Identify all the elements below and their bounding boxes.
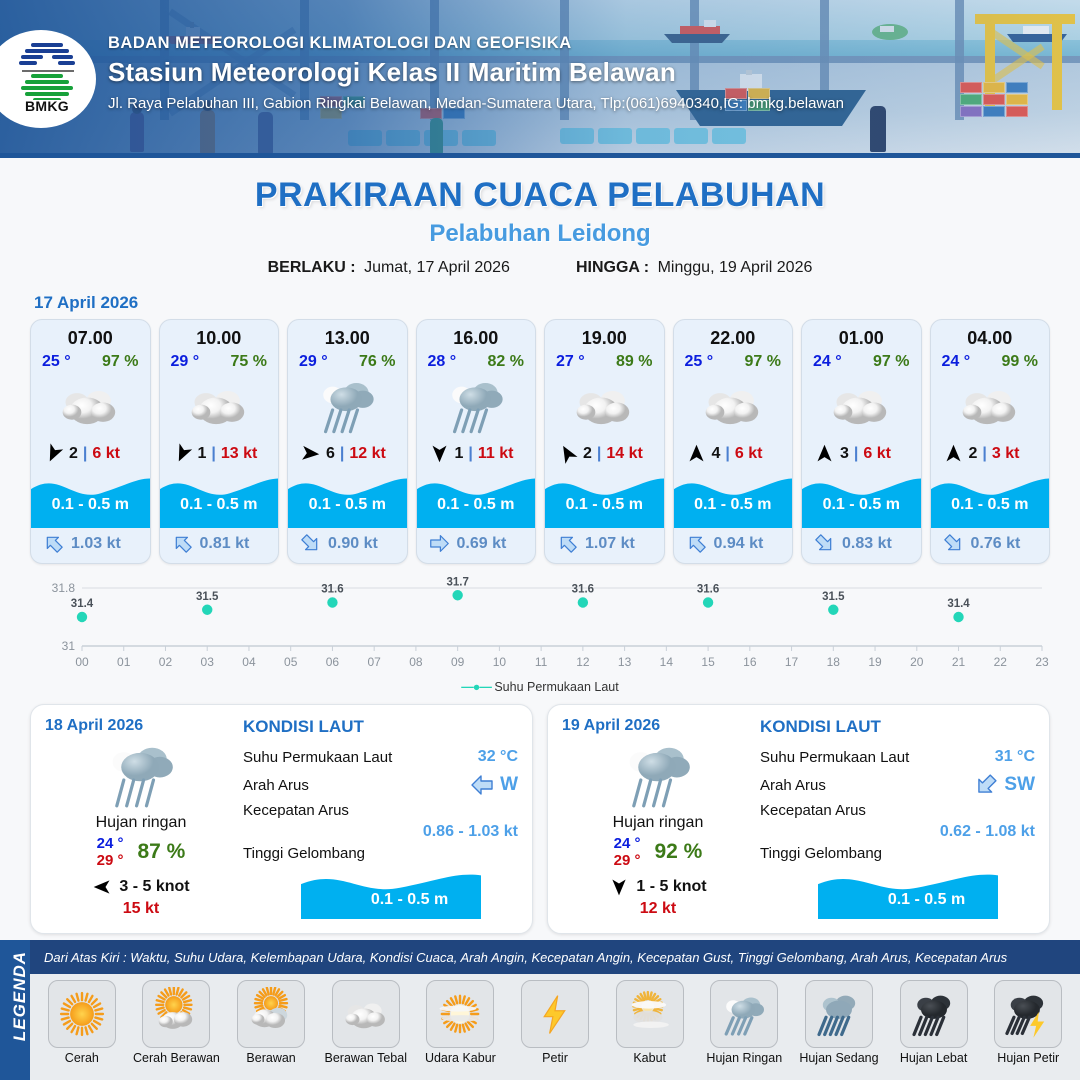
legend-icon-list: Cerah Cerah Berawan Berawan (30, 974, 1080, 1080)
card-separator: | (340, 445, 344, 463)
wave-height-label: Tinggi Gelombang (243, 845, 365, 862)
bmkg-logo-icon (18, 42, 76, 100)
clouds-icon (332, 980, 400, 1048)
card-separator: | (83, 445, 87, 463)
arrow-n-icon (814, 443, 835, 464)
agency-name: BADAN METEOROLOGI KLIMATOLOGI DAN GEOFIS… (108, 34, 844, 53)
svg-text:03: 03 (201, 655, 215, 669)
light-rain-icon (45, 735, 237, 813)
card-wave-band: 0.1 - 0.5 m (31, 470, 150, 528)
daily-left-block: 19 April 2026 Hujan ringan 24 ° 29 ° 92 … (562, 717, 754, 919)
card-wave-height: 0.1 - 0.5 m (931, 496, 1050, 514)
card-separator: | (725, 445, 729, 463)
arrow-nw-icon (557, 533, 578, 554)
card-wind-speed: 1 (455, 445, 464, 463)
hourly-card[interactable]: 04.00 24 ° 99 % 2 | 3 kt 0.1 - 0.5 m (930, 319, 1051, 564)
legend-item-label: Berawan (225, 1051, 317, 1065)
card-wave-band: 0.1 - 0.5 m (931, 470, 1050, 528)
legend-item-label: Udara Kabur (415, 1051, 507, 1065)
svg-text:31.5: 31.5 (822, 591, 845, 603)
svg-text:31.4: 31.4 (71, 598, 94, 610)
card-wind-speed: 2 (969, 445, 978, 463)
hourly-forecast-row: 07.00 25 ° 97 % 2 | 6 kt 0.1 - 0.5 m (0, 319, 1080, 564)
card-separator: | (982, 445, 986, 463)
valid-to: HINGGA : Minggu, 19 April 2026 (576, 259, 812, 277)
svg-text:21: 21 (952, 655, 966, 669)
card-time: 01.00 (802, 320, 921, 349)
card-gust: 3 kt (992, 445, 1020, 463)
cloudy-icon (160, 373, 279, 437)
legend-note: Dari Atas Kiri : Waktu, Suhu Udara, Kele… (30, 950, 1007, 965)
card-wave-height: 0.1 - 0.5 m (417, 496, 536, 514)
legend-item: Hujan Lebat (888, 980, 980, 1065)
card-separator: | (854, 445, 858, 463)
legend-item: Hujan Petir (982, 980, 1074, 1065)
card-wave-height: 0.1 - 0.5 m (545, 496, 664, 514)
sst-chart: 31.8310001020304050607080910111213141516… (30, 576, 1050, 676)
validity-row: BERLAKU : Jumat, 17 April 2026 HINGGA : … (0, 259, 1080, 277)
svg-text:19: 19 (868, 655, 882, 669)
legend-footer: LEGENDA Dari Atas Kiri : Waktu, Suhu Uda… (0, 940, 1080, 1080)
svg-text:31.7: 31.7 (446, 576, 468, 588)
sea-conditions-title: KONDISI LAUT (760, 717, 1035, 737)
legend-item-label: Hujan Lebat (888, 1051, 980, 1065)
svg-text:31: 31 (62, 639, 76, 653)
svg-text:31.6: 31.6 (572, 584, 594, 596)
daily-condition: Hujan ringan (562, 814, 754, 832)
card-time: 22.00 (674, 320, 793, 349)
svg-text:31.5: 31.5 (196, 591, 219, 603)
card-current-speed: 0.83 kt (842, 535, 892, 553)
daily-wave-value: 0.1 - 0.5 m (818, 891, 1035, 909)
port-name: Pelabuhan Leidong (0, 220, 1080, 248)
card-wave-band: 0.1 - 0.5 m (802, 470, 921, 528)
card-wave-height: 0.1 - 0.5 m (802, 496, 921, 514)
card-wave-band: 0.1 - 0.5 m (160, 470, 279, 528)
card-wind-speed: 1 (198, 445, 207, 463)
header-text-block: BADAN METEOROLOGI KLIMATOLOGI DAN GEOFIS… (108, 34, 844, 112)
card-time: 13.00 (288, 320, 407, 349)
heavy-rain-icon (900, 980, 968, 1048)
arrow-se-icon (943, 533, 964, 554)
daily-humidity: 92 % (654, 840, 702, 864)
card-wind-speed: 2 (583, 445, 592, 463)
svg-text:16: 16 (743, 655, 757, 669)
daily-gust: 15 kt (45, 900, 237, 918)
current-direction-label: Arah Arus (760, 777, 826, 794)
arrow-s-icon (429, 443, 450, 464)
sst-value: 32 °C (478, 748, 518, 766)
current-speed-value: 0.86 - 1.03 kt (243, 823, 518, 841)
haze-icon (426, 980, 494, 1048)
arrow-se-icon (300, 533, 321, 554)
daily-temp-min: 24 ° (97, 835, 124, 852)
cloudy-icon (545, 373, 664, 437)
legend-item-label: Petir (509, 1051, 601, 1065)
card-separator: | (468, 445, 472, 463)
card-time: 19.00 (545, 320, 664, 349)
sea-conditions-title: KONDISI LAUT (243, 717, 518, 737)
card-wave-band: 0.1 - 0.5 m (674, 470, 793, 528)
cloudy-icon (674, 373, 793, 437)
sst-value: 31 °C (995, 748, 1035, 766)
legend-item-label: Hujan Petir (982, 1051, 1074, 1065)
legend-item-label: Cerah (36, 1051, 128, 1065)
svg-text:11: 11 (535, 655, 548, 669)
moderate-rain-icon (805, 980, 873, 1048)
current-speed-value: 0.62 - 1.08 kt (760, 823, 1035, 841)
arrow-nw-icon (172, 533, 193, 554)
valid-from-value: Jumat, 17 April 2026 (364, 259, 510, 276)
arrow-sw-icon (172, 443, 193, 464)
bmkg-logo-label: BMKG (12, 98, 82, 114)
valid-from: BERLAKU : Jumat, 17 April 2026 (268, 259, 510, 277)
hourly-card[interactable]: 01.00 24 ° 97 % 3 | 6 kt 0.1 - 0.5 m (801, 319, 922, 564)
daily-wind-range: 1 - 5 knot (636, 878, 706, 896)
hourly-card[interactable]: 22.00 25 ° 97 % 4 | 6 kt 0.1 - 0.5 m (673, 319, 794, 564)
card-gust: 13 kt (221, 445, 257, 463)
current-direction-label: Arah Arus (243, 777, 309, 794)
arrow-e-icon (429, 533, 450, 554)
current-speed-label: Kecepatan Arus (243, 802, 349, 819)
svg-text:05: 05 (284, 655, 298, 669)
card-gust: 6 kt (863, 445, 891, 463)
svg-text:31.4: 31.4 (947, 598, 970, 610)
page-header: BMKG BADAN METEOROLOGI KLIMATOLOGI DAN G… (0, 0, 1080, 158)
svg-text:17: 17 (785, 655, 799, 669)
card-time: 07.00 (31, 320, 150, 349)
sst-chart-svg: 31.8310001020304050607080910111213141516… (30, 576, 1050, 676)
card-current-speed: 1.07 kt (585, 535, 635, 553)
legend-item: Cerah (36, 980, 128, 1065)
sst-chart-legend: —●— Suhu Permukaan Laut (0, 680, 1080, 694)
hourly-card[interactable]: 10.00 29 ° 75 % 1 | 13 kt 0.1 - 0.5 m (159, 319, 280, 564)
legend-note-bar: Dari Atas Kiri : Waktu, Suhu Udara, Kele… (30, 940, 1080, 974)
card-wave-height: 0.1 - 0.5 m (31, 496, 150, 514)
daily-condition: Hujan ringan (45, 814, 237, 832)
daily-left-block: 18 April 2026 Hujan ringan 24 ° 29 ° 87 … (45, 717, 237, 919)
card-current-speed: 0.69 kt (457, 535, 507, 553)
legend-item: Berawan Tebal (320, 980, 412, 1065)
svg-text:14: 14 (660, 655, 674, 669)
daily-temp-max: 29 ° (97, 852, 124, 869)
svg-text:22: 22 (994, 655, 1008, 669)
daily-forecast-row: 18 April 2026 Hujan ringan 24 ° 29 ° 87 … (0, 694, 1080, 934)
legend-item-label: Cerah Berawan (131, 1051, 223, 1065)
legend-side-bar: LEGENDA (0, 940, 30, 1080)
light-rain-icon (562, 735, 754, 813)
card-gust: 6 kt (735, 445, 763, 463)
legend-item: Hujan Sedang (793, 980, 885, 1065)
legend-item: Berawan (225, 980, 317, 1065)
card-current-speed: 1.03 kt (71, 535, 121, 553)
hourly-card[interactable]: 07.00 25 ° 97 % 2 | 6 kt 0.1 - 0.5 m (30, 319, 151, 564)
card-wave-height: 0.1 - 0.5 m (674, 496, 793, 514)
card-wave-height: 0.1 - 0.5 m (288, 496, 407, 514)
cloud-sun-icon (237, 980, 305, 1048)
svg-text:06: 06 (326, 655, 340, 669)
station-name: Stasiun Meteorologi Kelas II Maritim Bel… (108, 57, 844, 88)
svg-text:23: 23 (1035, 655, 1049, 669)
card-time: 04.00 (931, 320, 1050, 349)
arrow-n-icon (686, 443, 707, 464)
light-rain-icon (417, 373, 536, 437)
svg-text:04: 04 (242, 655, 256, 669)
daily-wind-range: 3 - 5 knot (119, 878, 189, 896)
daily-forecast-card[interactable]: 19 April 2026 Hujan ringan 24 ° 29 ° 92 … (547, 704, 1050, 934)
svg-text:31.6: 31.6 (697, 584, 719, 596)
card-time: 16.00 (417, 320, 536, 349)
card-wave-band: 0.1 - 0.5 m (545, 470, 664, 528)
card-wind-speed: 2 (69, 445, 78, 463)
valid-from-label: BERLAKU : (268, 259, 356, 276)
legend-item: Petir (509, 980, 601, 1065)
daily-temp-max: 29 ° (614, 852, 641, 869)
card-separator: | (597, 445, 601, 463)
card-current-speed: 0.76 kt (971, 535, 1021, 553)
card-separator: | (211, 445, 215, 463)
daily-temp-min: 24 ° (614, 835, 641, 852)
wave-height-label: Tinggi Gelombang (760, 845, 882, 862)
legend-item-label: Kabut (604, 1051, 696, 1065)
page-title: PRAKIRAAN CUACA PELABUHAN (0, 176, 1080, 215)
daily-wave-value: 0.1 - 0.5 m (301, 891, 518, 909)
svg-text:07: 07 (367, 655, 381, 669)
arrow-n-icon (943, 443, 964, 464)
daily-wave-band: 0.1 - 0.5 m (818, 867, 1035, 919)
current-direction-value: SW (1004, 774, 1035, 796)
arrow-se-icon (814, 533, 835, 554)
svg-text:09: 09 (451, 655, 465, 669)
title-block: PRAKIRAAN CUACA PELABUHAN Pelabuhan Leid… (0, 176, 1080, 277)
arrow-nw-icon (686, 533, 707, 554)
sea-conditions-block: KONDISI LAUT Suhu Permukaan Laut 31 °C A… (754, 717, 1035, 919)
sun-cloud-icon (142, 980, 210, 1048)
legend-item: Hujan Ringan (698, 980, 790, 1065)
card-wave-height: 0.1 - 0.5 m (160, 496, 279, 514)
arrow-e-icon (300, 443, 321, 464)
station-address: Jl. Raya Pelabuhan III, Gabion Ringkai B… (108, 95, 844, 112)
svg-text:00: 00 (75, 655, 89, 669)
legend-item: Cerah Berawan (131, 980, 223, 1065)
daily-humidity: 87 % (137, 840, 185, 864)
arrow-w-icon (92, 877, 112, 897)
sst-label: Suhu Permukaan Laut (243, 749, 392, 766)
legend-item: Kabut (604, 980, 696, 1065)
thunderstorm-rain-icon (994, 980, 1062, 1048)
sst-label: Suhu Permukaan Laut (760, 749, 909, 766)
card-time: 10.00 (160, 320, 279, 349)
card-gust: 12 kt (349, 445, 385, 463)
hourly-card[interactable]: 13.00 29 ° 76 % 6 | 12 kt 0.1 - 0.5 m (287, 319, 408, 564)
card-wind-speed: 6 (326, 445, 335, 463)
svg-text:13: 13 (618, 655, 632, 669)
svg-text:12: 12 (576, 655, 590, 669)
cloudy-icon (931, 373, 1050, 437)
light-rain-icon (710, 980, 778, 1048)
hourly-date-label: 17 April 2026 (34, 293, 1080, 313)
current-speed-label: Kecepatan Arus (760, 802, 866, 819)
bmkg-logo: BMKG (0, 30, 96, 128)
daily-forecast-card[interactable]: 18 April 2026 Hujan ringan 24 ° 29 ° 87 … (30, 704, 533, 934)
arrow-s-icon (609, 877, 629, 897)
arrow-nw-icon (43, 533, 64, 554)
svg-text:02: 02 (159, 655, 173, 669)
card-gust: 6 kt (92, 445, 120, 463)
lightning-icon (521, 980, 589, 1048)
current-direction-value: W (500, 774, 518, 796)
card-current-speed: 0.94 kt (714, 535, 764, 553)
daily-gust: 12 kt (562, 900, 754, 918)
svg-text:20: 20 (910, 655, 924, 669)
card-current-speed: 0.90 kt (328, 535, 378, 553)
svg-text:10: 10 (493, 655, 507, 669)
hourly-card[interactable]: 19.00 27 ° 89 % 2 | 14 kt 0.1 - 0.5 m (544, 319, 665, 564)
hourly-card[interactable]: 16.00 28 ° 82 % 1 | 11 kt 0.1 - 0.5 m (416, 319, 537, 564)
svg-text:15: 15 (701, 655, 715, 669)
svg-text:31.8: 31.8 (52, 581, 76, 595)
valid-to-label: HINGGA : (576, 259, 649, 276)
svg-text:08: 08 (409, 655, 423, 669)
legend-item: Udara Kabur (415, 980, 507, 1065)
legend-item-label: Hujan Ringan (698, 1051, 790, 1065)
light-rain-icon (288, 373, 407, 437)
cloudy-icon (31, 373, 150, 437)
arrow-w-icon (470, 773, 494, 797)
arrow-nw-icon (557, 443, 578, 464)
legend-side-title: LEGENDA (10, 936, 30, 1056)
fog-icon (616, 980, 684, 1048)
sun-icon (48, 980, 116, 1048)
cloudy-icon (802, 373, 921, 437)
card-gust: 14 kt (606, 445, 642, 463)
svg-text:01: 01 (117, 655, 131, 669)
sea-conditions-block: KONDISI LAUT Suhu Permukaan Laut 32 °C A… (237, 717, 518, 919)
valid-to-value: Minggu, 19 April 2026 (658, 259, 813, 276)
card-wind-speed: 3 (840, 445, 849, 463)
arrow-sw-icon (974, 773, 998, 797)
card-current-speed: 0.81 kt (200, 535, 250, 553)
legend-item-label: Hujan Sedang (793, 1051, 885, 1065)
daily-wave-band: 0.1 - 0.5 m (301, 867, 518, 919)
chart-legend-label: Suhu Permukaan Laut (494, 680, 618, 694)
card-gust: 11 kt (478, 445, 514, 463)
svg-text:31.6: 31.6 (321, 584, 343, 596)
card-wave-band: 0.1 - 0.5 m (288, 470, 407, 528)
svg-text:18: 18 (827, 655, 841, 669)
legend-item-label: Berawan Tebal (320, 1051, 412, 1065)
card-wind-speed: 4 (712, 445, 721, 463)
arrow-sw-icon (43, 443, 64, 464)
card-wave-band: 0.1 - 0.5 m (417, 470, 536, 528)
chart-legend-marker-icon: —●— (461, 680, 491, 694)
